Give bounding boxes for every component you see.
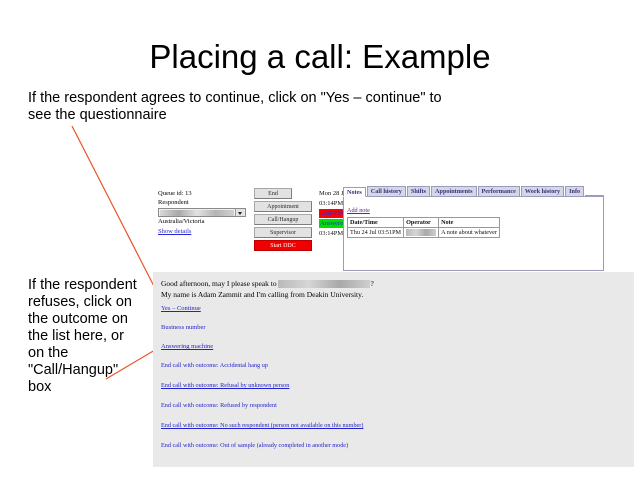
left-instruction-text: If the respondent refuses, click on the … [28,277,138,396]
embedded-app-screenshot: Queue id: 13 Respondent Australia/Victor… [153,184,634,467]
tab-notes[interactable]: Notes [343,187,366,197]
add-note-link[interactable]: Add note [347,207,370,214]
notes-panel: Notes Call history Shifts Appointments P… [343,185,604,271]
link-yes-continue[interactable]: Yes – Continue [161,304,601,313]
intro-instruction-text: If the respondent agrees to continue, cl… [28,90,448,124]
col-operator: Operator [404,218,439,228]
link-outcome-refused-by-respondent[interactable]: End call with outcome: Refused by respon… [161,401,601,410]
app-script-region: Good afternoon, may I please speak to ? … [153,272,634,467]
tab-appointments[interactable]: Appointments [431,186,476,196]
chevron-down-icon[interactable] [235,209,245,216]
end-button[interactable]: End [254,188,292,199]
tab-info[interactable]: Info [565,186,584,196]
operator-redacted [406,229,436,236]
call-control-buttons: End Appointment Call/Hangup Supervisor S… [254,188,316,253]
tabbar-filler [585,195,604,196]
tab-work-history[interactable]: Work history [521,186,564,196]
respondent-name-redacted [278,280,370,288]
notes-panel-body: Add note Date/Time Operator Note Thu 24 … [343,197,604,271]
table-row: Thu 24 Jul 03:51PM A note about whatever [348,228,500,238]
region-label: Australia/Victoria [158,217,250,226]
cell-datetime: Thu 24 Jul 03:51PM [348,228,404,238]
col-note: Note [439,218,500,228]
script-line1-prefix: Good afternoon, may I please speak to [161,279,278,288]
link-outcome-accidental-hangup[interactable]: End call with outcome: Accidental hang u… [161,361,601,370]
caller-info-block: Queue id: 13 Respondent Australia/Victor… [158,189,250,236]
respondent-value-redacted [160,210,234,216]
link-outcome-out-of-sample[interactable]: End call with outcome: Out of sample (al… [161,441,601,450]
queue-id-label: Queue id: 13 [158,189,250,198]
app-top-region: Queue id: 13 Respondent Australia/Victor… [153,184,634,272]
tab-performance[interactable]: Performance [478,186,520,196]
call-hangup-button[interactable]: Call/Hangup [254,214,312,225]
link-outcome-refusal-unknown-person[interactable]: End call with outcome: Refusal by unknow… [161,381,601,390]
notes-table: Date/Time Operator Note Thu 24 Jul 03:51… [347,217,500,238]
show-details-link[interactable]: Show details [158,227,250,236]
voip-status-badge: VoIP Off [319,209,344,218]
arrow-to-dialogue [72,126,160,298]
tab-call-history[interactable]: Call history [367,186,406,196]
script-line1-suffix: ? [370,279,373,288]
tab-shifts[interactable]: Shifts [407,186,430,196]
call-script-text: Good afternoon, may I please speak to ? … [161,278,561,300]
start-ddc-button[interactable]: Start DDC [254,240,312,251]
supervisor-button[interactable]: Supervisor [254,227,312,238]
link-answering-machine[interactable]: Answering machine [161,342,601,351]
cell-note: A note about whatever [439,228,500,238]
table-header-row: Date/Time Operator Note [348,218,500,228]
cell-operator [404,228,439,238]
slide-canvas: Placing a call: Example If the responden… [0,0,640,480]
link-outcome-no-such-respondent[interactable]: End call with outcome: No such responden… [161,421,601,430]
panel-tabbar: Notes Call history Shifts Appointments P… [343,185,604,197]
page-title: Placing a call: Example [0,38,640,76]
link-business-number[interactable]: Business number [161,323,601,332]
respondent-label: Respondent [158,198,250,207]
col-datetime: Date/Time [348,218,404,228]
appointment-button[interactable]: Appointment [254,201,312,212]
respondent-select[interactable] [158,208,246,217]
script-line2: My name is Adam Zammit and I'm calling f… [161,290,363,299]
action-link-list: Yes – Continue Business number Answering… [161,304,601,461]
